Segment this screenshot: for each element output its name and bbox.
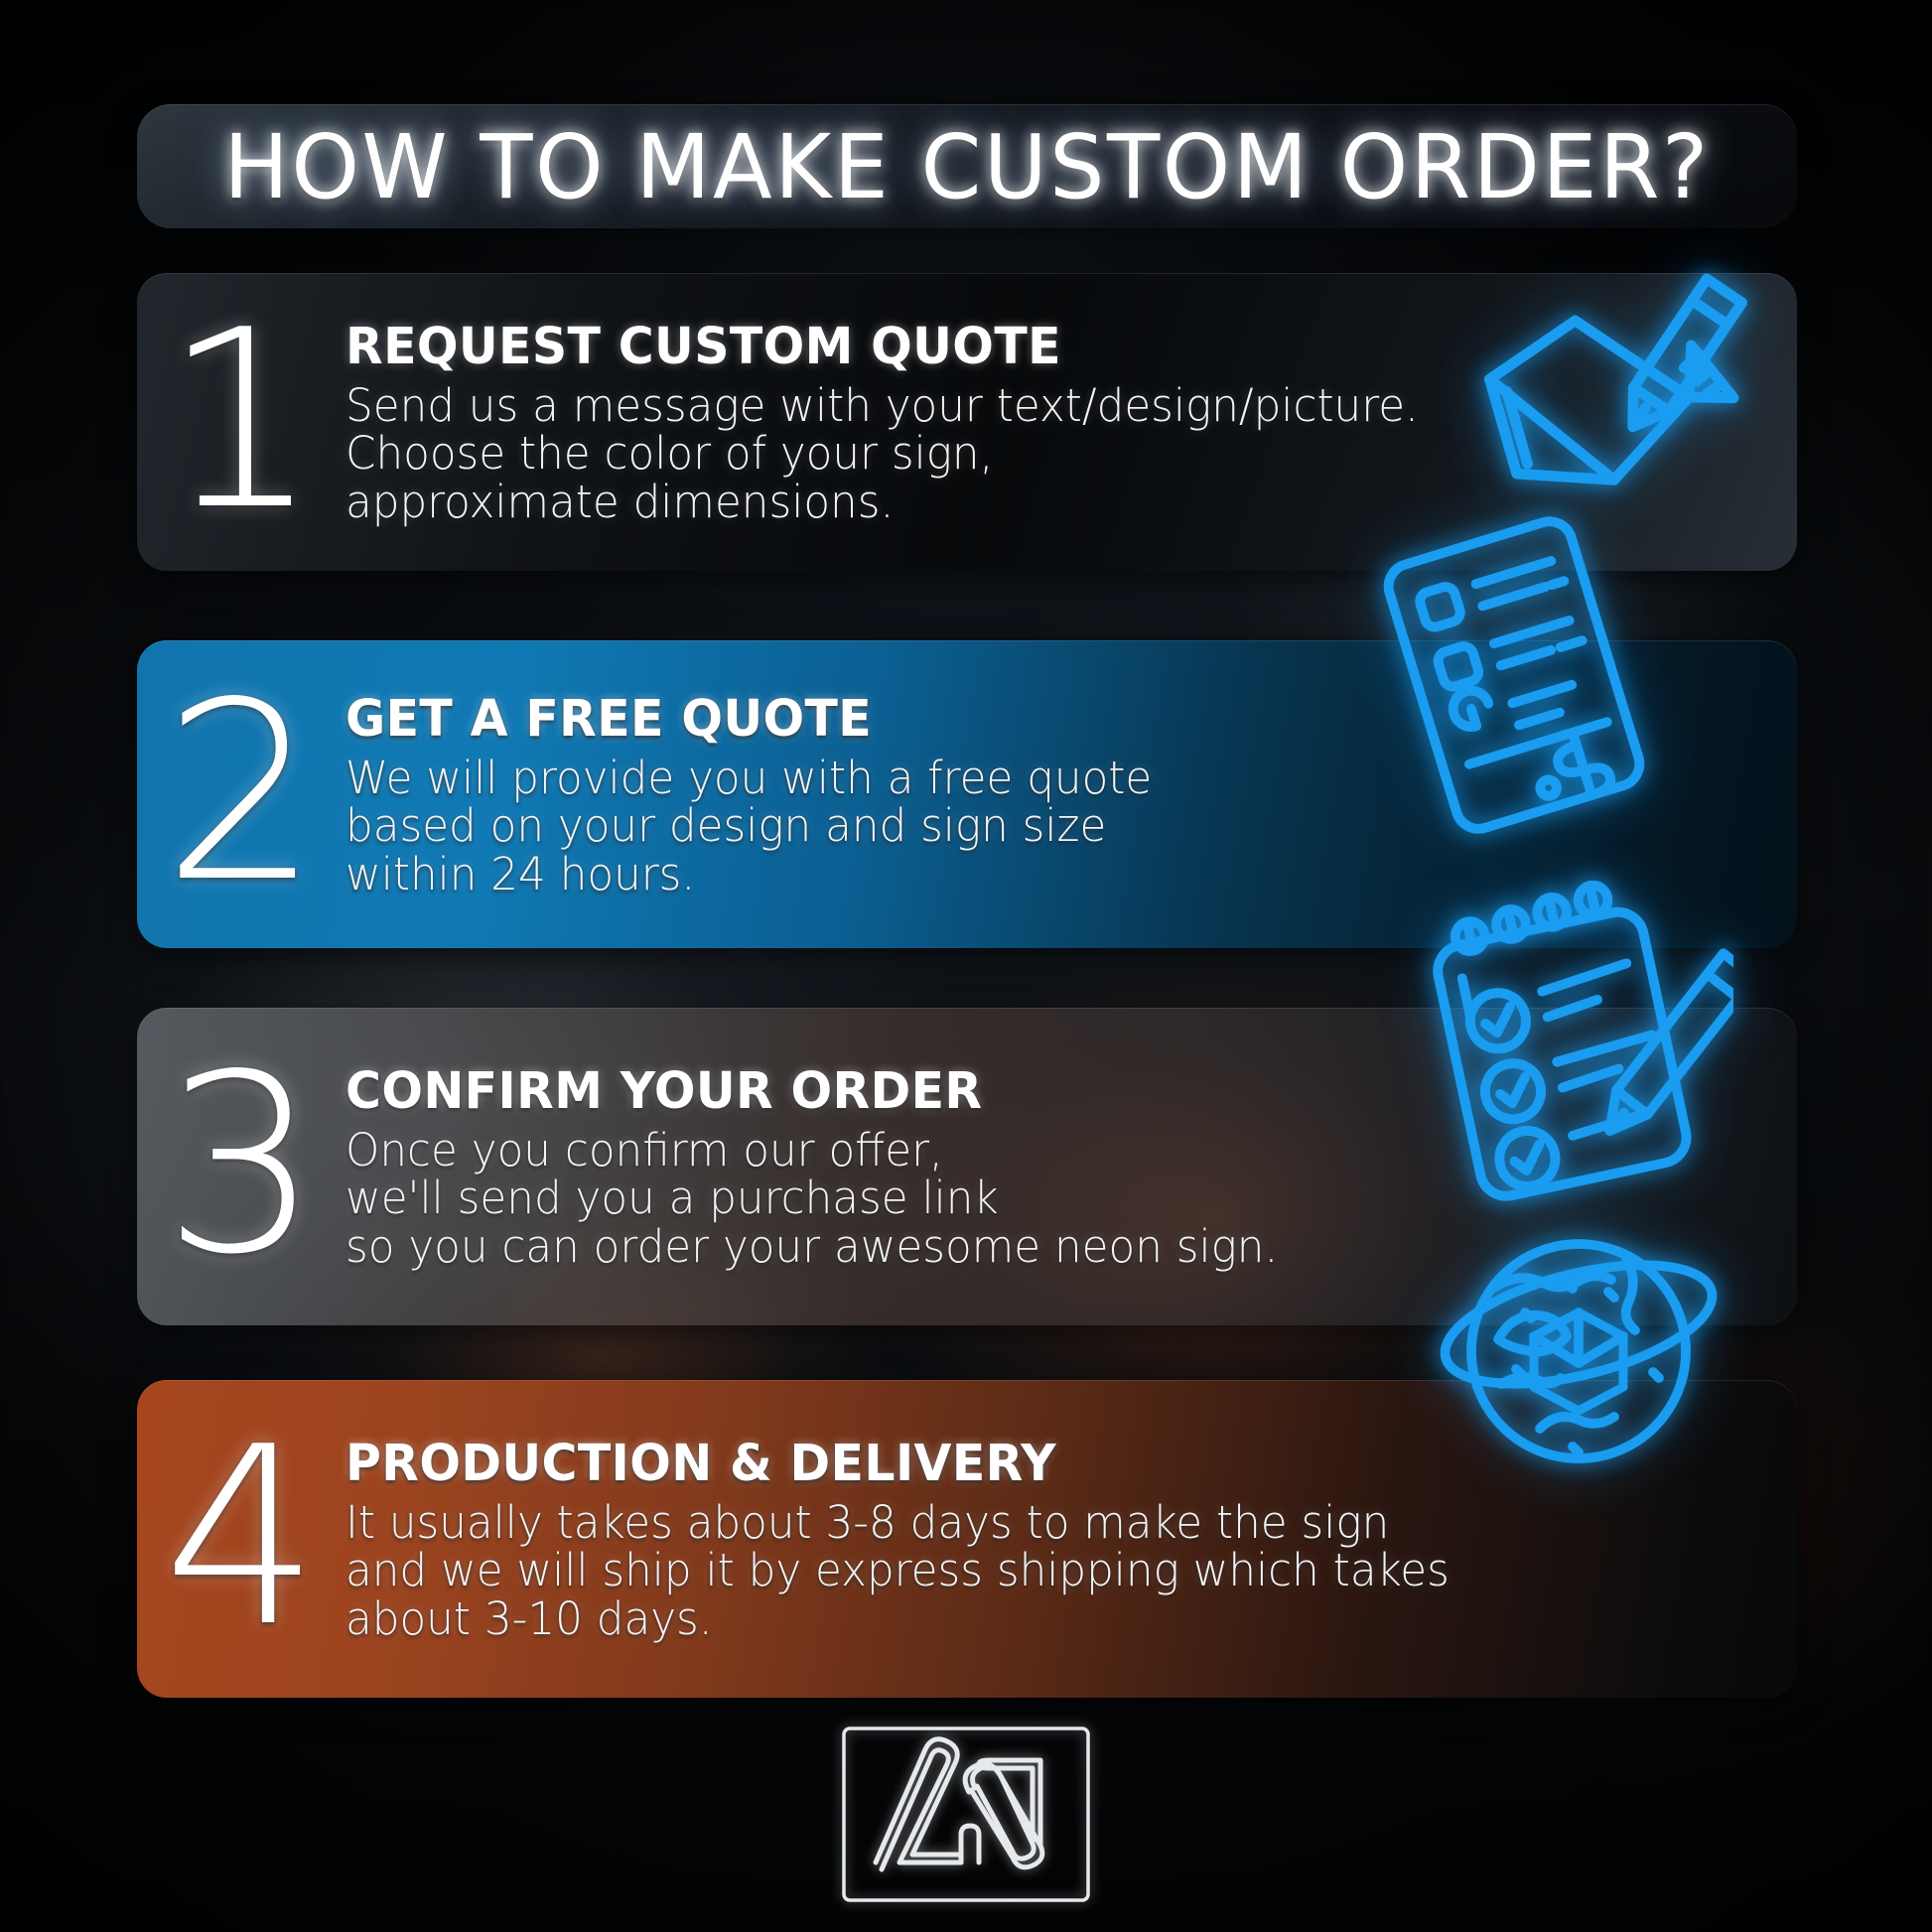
- step-number-2: 2: [137, 683, 345, 904]
- step-card-1: 1 REQUEST CUSTOM QUOTE Send us a message…: [137, 273, 1797, 571]
- neon-monogram-logo: [838, 1723, 1094, 1906]
- title-card: HOW TO MAKE CUSTOM ORDER?: [137, 104, 1797, 228]
- step-description-2: We will provide you with a free quote ba…: [345, 755, 1721, 897]
- page-title: HOW TO MAKE CUSTOM ORDER?: [223, 115, 1710, 218]
- step-heading-4: PRODUCTION & DELIVERY: [345, 1435, 1707, 1493]
- step-number-1: 1: [137, 311, 345, 532]
- step-description-3: Once you confirm our offer, we'll send y…: [345, 1127, 1721, 1270]
- step-description-4: It usually takes about 3-8 days to make …: [345, 1499, 1721, 1642]
- step-description-1: Send us a message with your text/design/…: [345, 382, 1721, 525]
- step-number-3: 3: [137, 1055, 345, 1277]
- step-card-4: 4 PRODUCTION & DELIVERY It usually takes…: [137, 1380, 1797, 1698]
- step-heading-1: REQUEST CUSTOM QUOTE: [345, 318, 1707, 376]
- step-card-3: 3 CONFIRM YOUR ORDER Once you confirm ou…: [137, 1008, 1797, 1325]
- step-heading-3: CONFIRM YOUR ORDER: [345, 1062, 1707, 1121]
- step-card-2: 2 GET A FREE QUOTE We will provide you w…: [137, 640, 1797, 948]
- step-heading-2: GET A FREE QUOTE: [345, 690, 1707, 749]
- infographic-canvas: HOW TO MAKE CUSTOM ORDER? 1 REQUEST CUST…: [0, 0, 1932, 1932]
- step-number-4: 4: [137, 1428, 345, 1649]
